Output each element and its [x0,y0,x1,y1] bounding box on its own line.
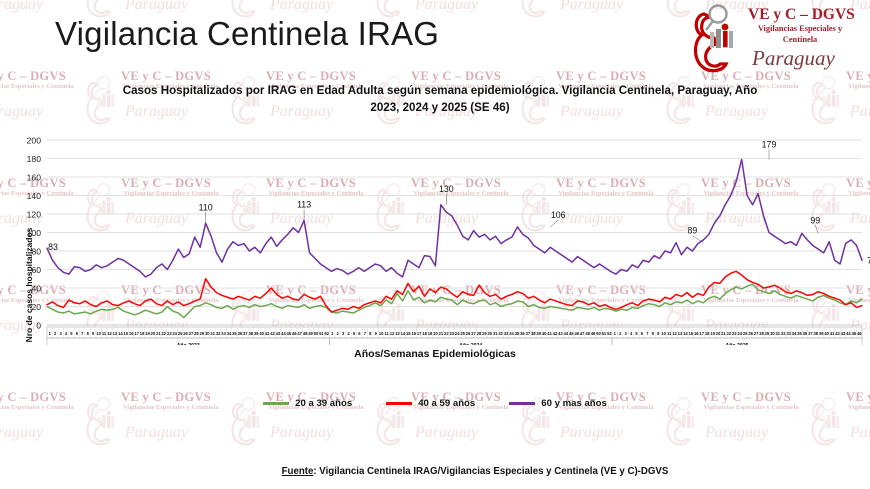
y-tick-label: 180 [27,154,42,164]
legend-item-0[interactable]: 20 a 39 años [263,398,352,409]
legend-swatch-icon [263,402,289,405]
x-tick-label: 10 [379,331,384,336]
legend-label: 20 a 39 años [295,398,352,409]
data-label: 110 [199,202,213,212]
logo-country: Paraguay [752,46,835,71]
watermark-tile: VE y C – DGVSVigilancias Especiales y Ce… [520,0,665,67]
data-label: 83 [48,242,58,252]
x-tick-label: 11 [384,331,389,336]
data-label: 113 [297,199,311,209]
y-tick-label: 120 [27,209,42,219]
chart-legend: 20 a 39 años40 a 59 años60 y mas años [0,398,870,409]
x-tick-label: 10 [661,331,666,336]
logo-subtitle: Vigilancias Especiales y Centinela [740,24,860,45]
legend-label: 60 y mas años [541,398,607,409]
logo: VE y C – DGVS Vigilancias Especiales y C… [692,2,864,76]
x-tick-label: 46 [857,331,862,336]
annotation-leader [550,220,558,227]
y-tick-label: 60 [31,265,41,275]
x-group-label: Año 2024 [459,343,482,345]
source-label: Fuente [282,466,314,477]
series-line-1[interactable] [47,271,862,312]
x-tick-label: 52 [607,331,612,336]
logo-title: VE y C – DGVS [748,6,855,24]
data-label: 99 [810,215,820,225]
y-tick-label: 0 [36,320,41,330]
x-tick-label: 11 [102,331,107,336]
chart-title: Casos Hospitalizados por IRAG en Edad Ad… [120,82,760,116]
data-label: 130 [439,184,454,194]
data-label: 106 [551,210,566,220]
source-text: : Vigilancia Centinela IRAG/Vigilancias … [313,466,668,477]
y-tick-label: 160 [27,172,42,182]
y-tick-label: 20 [31,302,41,312]
y-tick-label: 40 [31,283,41,293]
chart: Nro de casos hospitalizados 020406080100… [0,130,870,370]
legend-swatch-icon [509,402,535,405]
y-tick-label: 100 [27,228,42,238]
x-tick-label: 11 [667,331,672,336]
legend-swatch-icon [386,402,412,405]
y-tick-label: 80 [31,246,41,256]
annotation-leader [692,236,703,243]
x-group-label: Año 2023 [177,343,200,345]
page-title: Vigilancia Centinela IRAG [55,15,439,53]
legend-item-1[interactable]: 40 a 59 años [386,398,475,409]
chart-plot: 0204060801001201401601802001234567891011… [0,130,870,345]
data-label: 89 [687,226,697,236]
data-label: 179 [762,139,777,149]
x-axis-label: Años/Semanas Epidemiológicas [0,348,870,360]
y-tick-label: 140 [27,191,42,201]
x-tick-label: 10 [96,331,101,336]
x-tick-label: 52 [325,331,330,336]
legend-label: 40 a 59 años [418,398,475,409]
legend-item-2[interactable]: 60 y mas años [509,398,607,409]
series-line-0[interactable] [47,284,862,317]
source-footer: Fuente: Vigilancia Centinela IRAG/Vigila… [0,466,860,477]
x-group-label: Año 2025 [725,343,748,345]
y-tick-label: 200 [27,135,42,145]
